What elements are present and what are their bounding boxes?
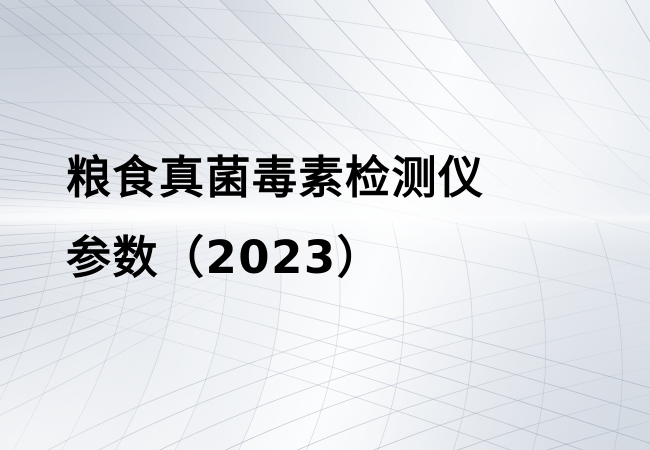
title-line-primary: 粮食真菌毒素检测仪: [66, 138, 606, 218]
title-banner: 粮食真菌毒素检测仪 参数（2023）: [0, 0, 650, 450]
banner-title: 粮食真菌毒素检测仪 参数（2023）: [66, 138, 606, 298]
title-line-secondary: 参数（2023）: [66, 218, 606, 298]
